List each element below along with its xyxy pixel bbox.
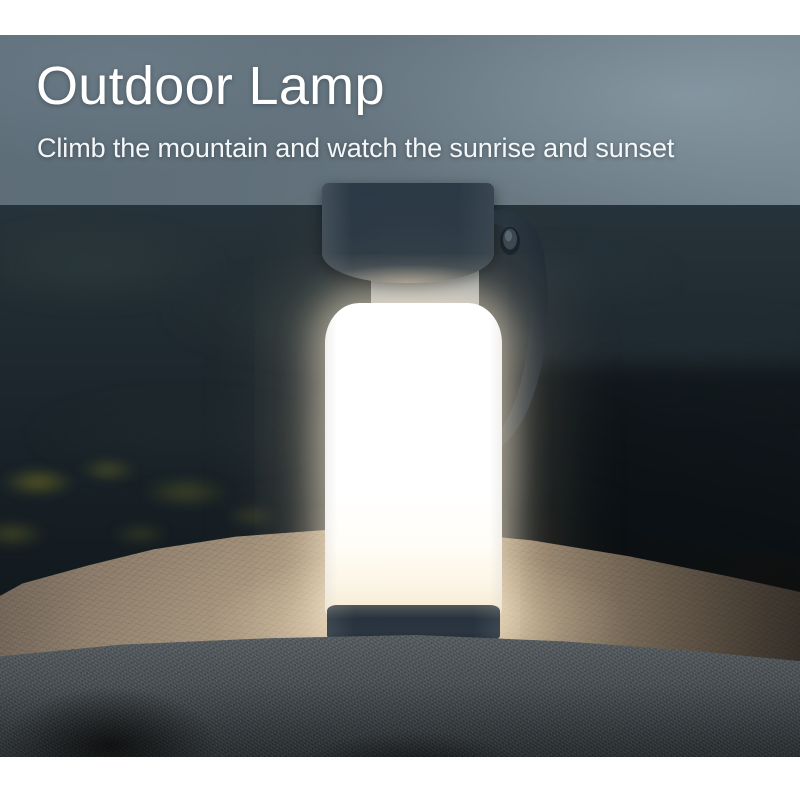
page-title: Outdoor Lamp [36, 58, 385, 115]
handle-pivot-screw [500, 227, 520, 255]
product-banner: Outdoor Lamp Climb the mountain and watc… [0, 0, 800, 800]
diffuser-edge-shading [325, 303, 502, 621]
page-subtitle: Climb the mountain and watch the sunrise… [37, 132, 674, 164]
top-cap-highlight [322, 183, 494, 283]
stone-front-shadow [0, 635, 800, 757]
